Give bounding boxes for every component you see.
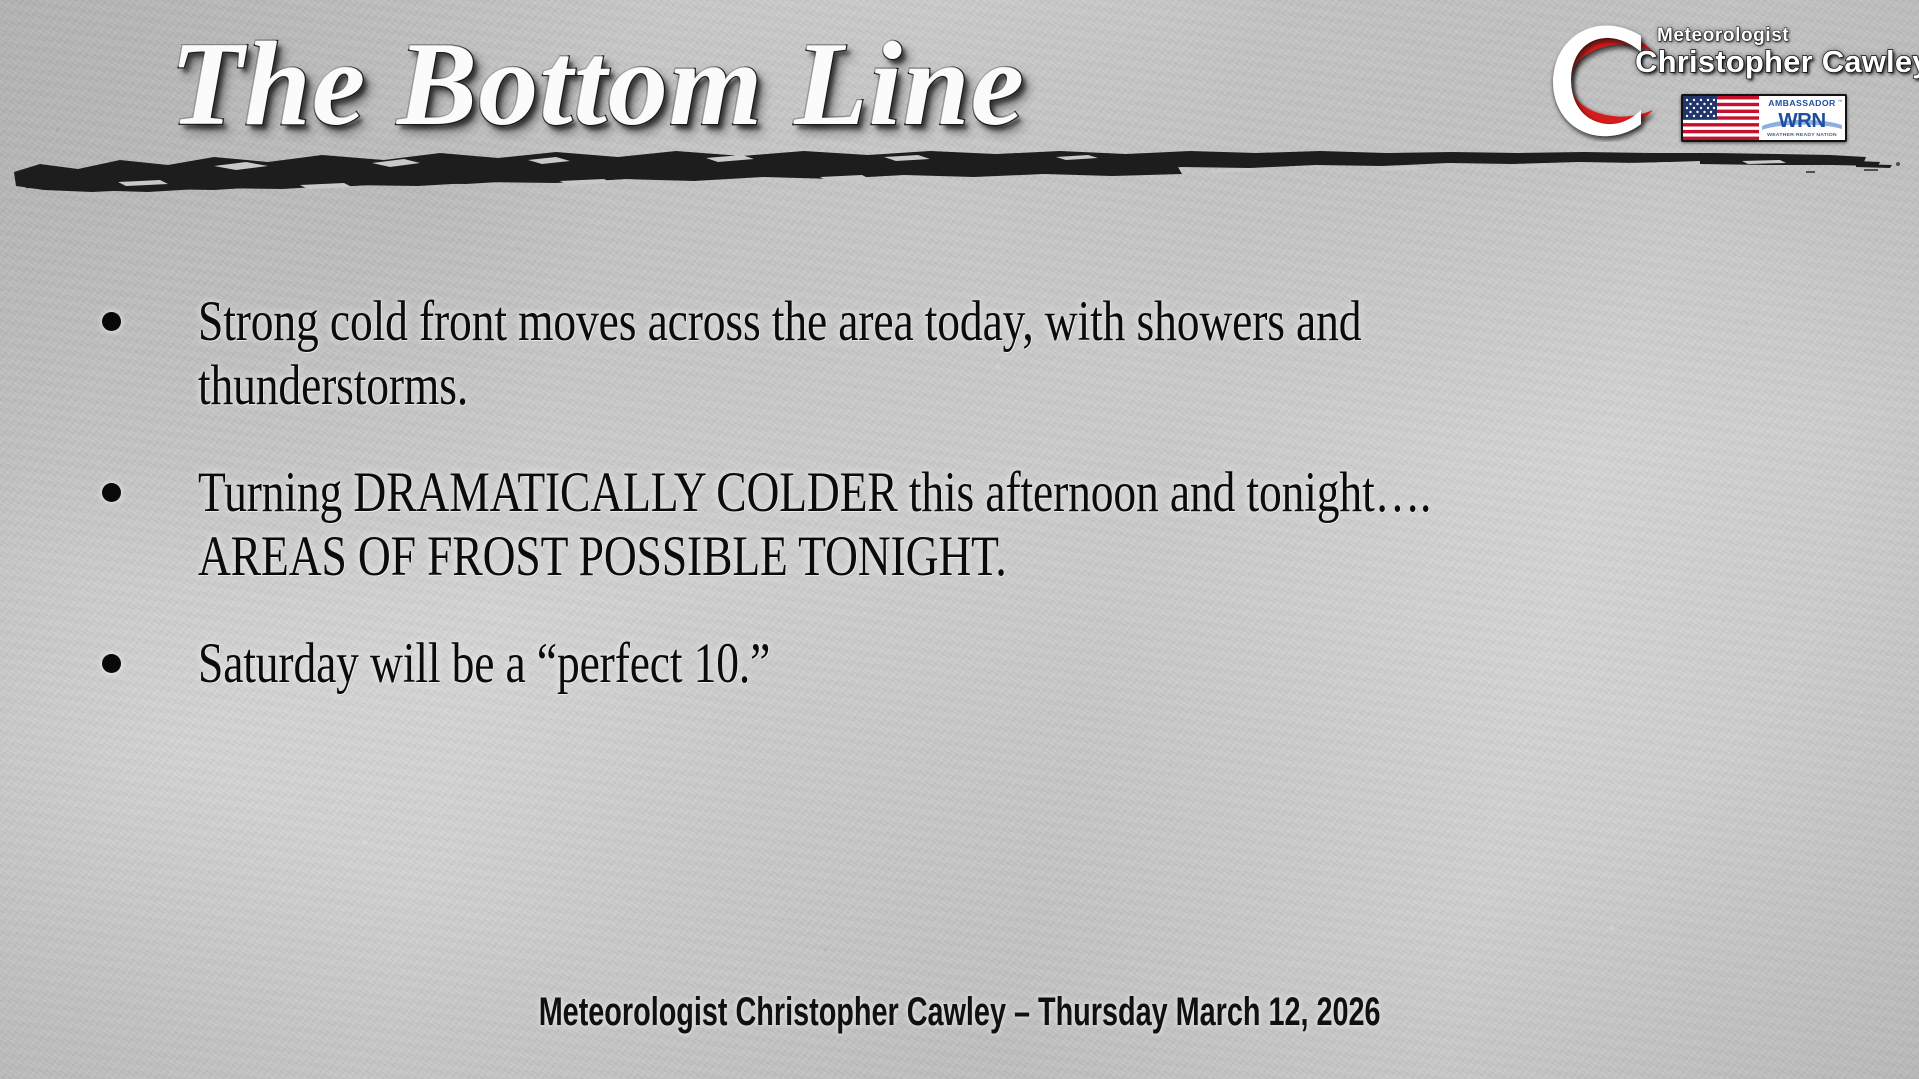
slide-canvas: The Bottom Line bbox=[0, 0, 1919, 1079]
svg-text:WRN: WRN bbox=[1778, 110, 1825, 132]
slide-title-text: The Bottom Line bbox=[170, 24, 1350, 144]
list-item: Turning DRAMATICALLY COLDER this afterno… bbox=[100, 461, 1840, 590]
slide-title: The Bottom Line bbox=[170, 24, 1350, 154]
footer-credit: Meteorologist Christopher Cawley – Thurs… bbox=[0, 990, 1919, 1035]
logo-wordmark: Meteorologist Christopher Cawley bbox=[1635, 26, 1903, 77]
svg-text:WEATHER-READY NATION: WEATHER-READY NATION bbox=[1767, 132, 1837, 138]
station-logo: Meteorologist Christopher Cawley bbox=[1533, 22, 1903, 142]
bullet-text: Turning DRAMATICALLY COLDER this afterno… bbox=[198, 461, 1512, 590]
svg-text:AMBASSADOR: AMBASSADOR bbox=[1768, 98, 1836, 108]
bullet-marker-icon bbox=[100, 461, 122, 502]
bullet-marker-icon bbox=[100, 632, 122, 673]
wrn-ambassador-badge: AMBASSADOR ™ WRN WEATHER-READY NATION bbox=[1681, 94, 1847, 142]
list-item: Saturday will be a “perfect 10.” bbox=[100, 632, 1840, 696]
list-item: Strong cold front moves across the area … bbox=[100, 290, 1840, 419]
logo-name-label: Christopher Cawley bbox=[1635, 46, 1903, 77]
bullet-list: Strong cold front moves across the area … bbox=[100, 290, 1840, 738]
bullet-text: Saturday will be a “perfect 10.” bbox=[198, 632, 1512, 696]
us-flag-icon bbox=[1683, 96, 1759, 140]
wrn-logo-icon: AMBASSADOR ™ WRN WEATHER-READY NATION bbox=[1759, 96, 1845, 140]
bullet-marker-icon bbox=[100, 290, 122, 331]
svg-text:™: ™ bbox=[1838, 99, 1843, 104]
footer-credit-text: Meteorologist Christopher Cawley – Thurs… bbox=[539, 990, 1381, 1035]
logo-role-label: Meteorologist bbox=[1657, 26, 1903, 45]
bullet-text: Strong cold front moves across the area … bbox=[198, 290, 1512, 419]
